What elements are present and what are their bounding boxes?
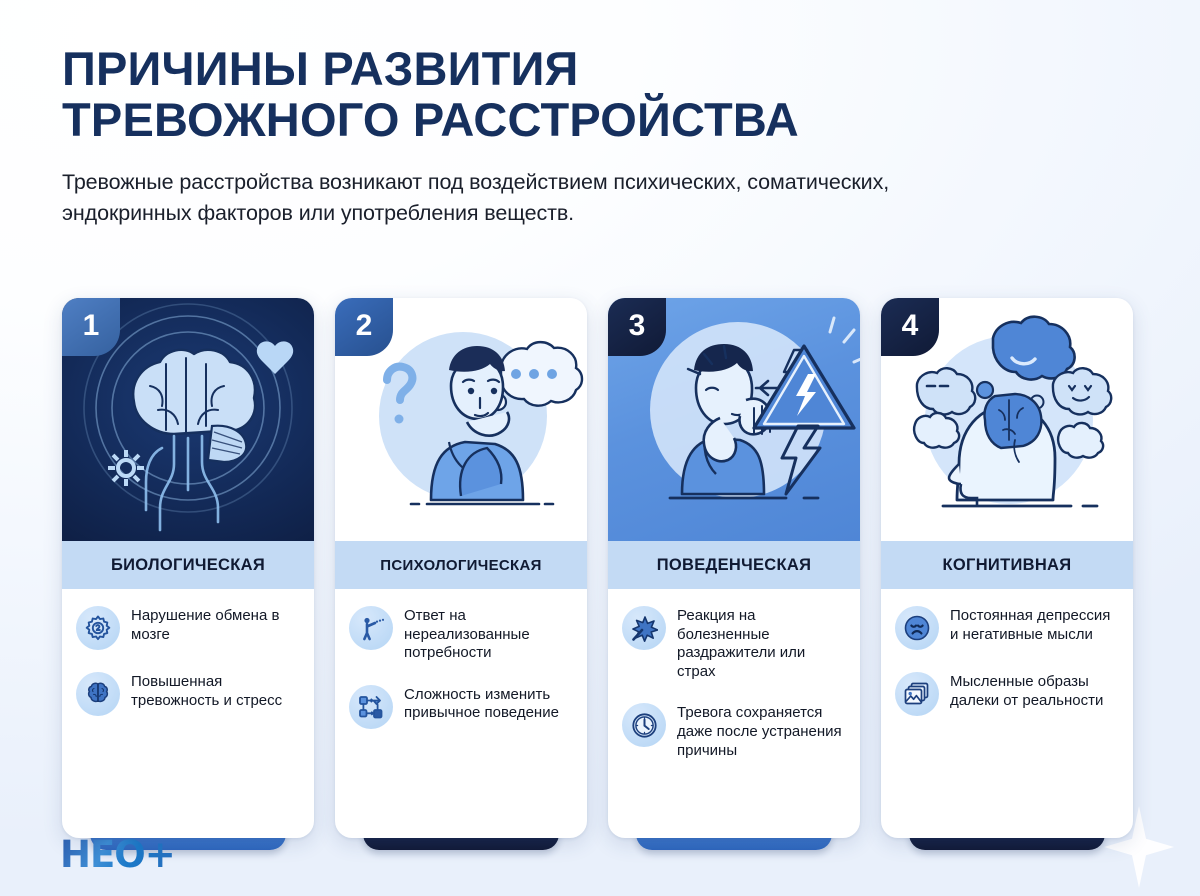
- card-body-1: Нарушение обмена в мозге Повышен: [62, 589, 314, 838]
- list-item: Реакция на болезненные раздражители или …: [622, 606, 846, 681]
- list-item: Ответ на нереализованные потребности: [349, 606, 573, 663]
- card-illustration-4: 4: [881, 298, 1133, 541]
- card-label-3: ПОВЕДЕНЧЕСКАЯ: [608, 541, 860, 589]
- card-label-1: БИОЛОГИЧЕСКАЯ: [62, 541, 314, 589]
- gear-icon: [108, 450, 144, 486]
- list-item-text: Ответ на нереализованные потребности: [404, 606, 573, 663]
- list-item: Сложность изменить привычное поведение: [349, 685, 573, 729]
- card-illustration-3: 3: [608, 298, 860, 541]
- card-1[interactable]: 1: [62, 298, 314, 838]
- card-body-3: Реакция на болезненные раздражители или …: [608, 589, 860, 838]
- brain-icon: [76, 672, 120, 716]
- list-item-text: Мысленные образы далеки от реальности: [950, 672, 1119, 710]
- list-item-text: Сложность изменить привычное поведение: [404, 685, 573, 723]
- card-4[interactable]: 4: [881, 298, 1133, 838]
- gear-metabolism-icon: [76, 606, 120, 650]
- card-label-2: ПСИХОЛОГИЧЕСКАЯ: [335, 541, 587, 589]
- flowchart-icon: [349, 685, 393, 729]
- card-illustration-1: 1: [62, 298, 314, 541]
- card-3[interactable]: 3: [608, 298, 860, 838]
- brand-logo-text: НЕО+: [60, 836, 175, 873]
- card-number-badge-3: 3: [608, 298, 666, 356]
- list-item-text: Реакция на болезненные раздражители или …: [677, 606, 846, 681]
- photos-icon: [895, 672, 939, 716]
- page-header: ПРИЧИНЫ РАЗВИТИЯ ТРЕВОЖНОГО РАССТРОЙСТВА…: [62, 46, 1082, 228]
- clock-icon: [622, 703, 666, 747]
- page-title: ПРИЧИНЫ РАЗВИТИЯ ТРЕВОЖНОГО РАССТРОЙСТВА: [62, 46, 1082, 143]
- card-label-4: КОГНИТИВНАЯ: [881, 541, 1133, 589]
- list-item: Повышенная тревожность и стресс: [76, 672, 300, 716]
- page-title-line-1: ПРИЧИНЫ РАЗВИТИЯ: [62, 42, 579, 95]
- person-reaching-icon: [349, 606, 393, 650]
- page-title-line-2: ТРЕВОЖНОГО РАССТРОЙСТВА: [62, 97, 1082, 144]
- heart-icon: [257, 341, 293, 374]
- card-body-4: Постоянная депрессия и негативные мысли …: [881, 589, 1133, 838]
- list-item-text: Повышенная тревожность и стресс: [131, 672, 300, 710]
- brand-logo: НЕО+: [60, 834, 175, 874]
- card-body-2: Ответ на нереализованные потребности: [335, 589, 587, 838]
- card-number-badge-1: 1: [62, 298, 120, 356]
- sad-face-icon: [895, 606, 939, 650]
- card-number-badge-4: 4: [881, 298, 939, 356]
- list-item: Тревога сохраняется даже после устранени…: [622, 703, 846, 760]
- card-2[interactable]: 2: [335, 298, 587, 838]
- card-number-badge-2: 2: [335, 298, 393, 356]
- list-item-text: Тревога сохраняется даже после устранени…: [677, 703, 846, 760]
- burst-icon: [622, 606, 666, 650]
- cards-row: 1: [62, 298, 1140, 838]
- list-item: Постоянная депрессия и негативные мысли: [895, 606, 1119, 650]
- list-item: Мысленные образы далеки от реальности: [895, 672, 1119, 716]
- list-item-text: Постоянная депрессия и негативные мысли: [950, 606, 1119, 644]
- card-illustration-2: 2: [335, 298, 587, 541]
- page-subtitle: Тревожные расстройства возникают под воз…: [62, 167, 1002, 228]
- list-item-text: Нарушение обмена в мозге: [131, 606, 300, 644]
- list-item: Нарушение обмена в мозге: [76, 606, 300, 650]
